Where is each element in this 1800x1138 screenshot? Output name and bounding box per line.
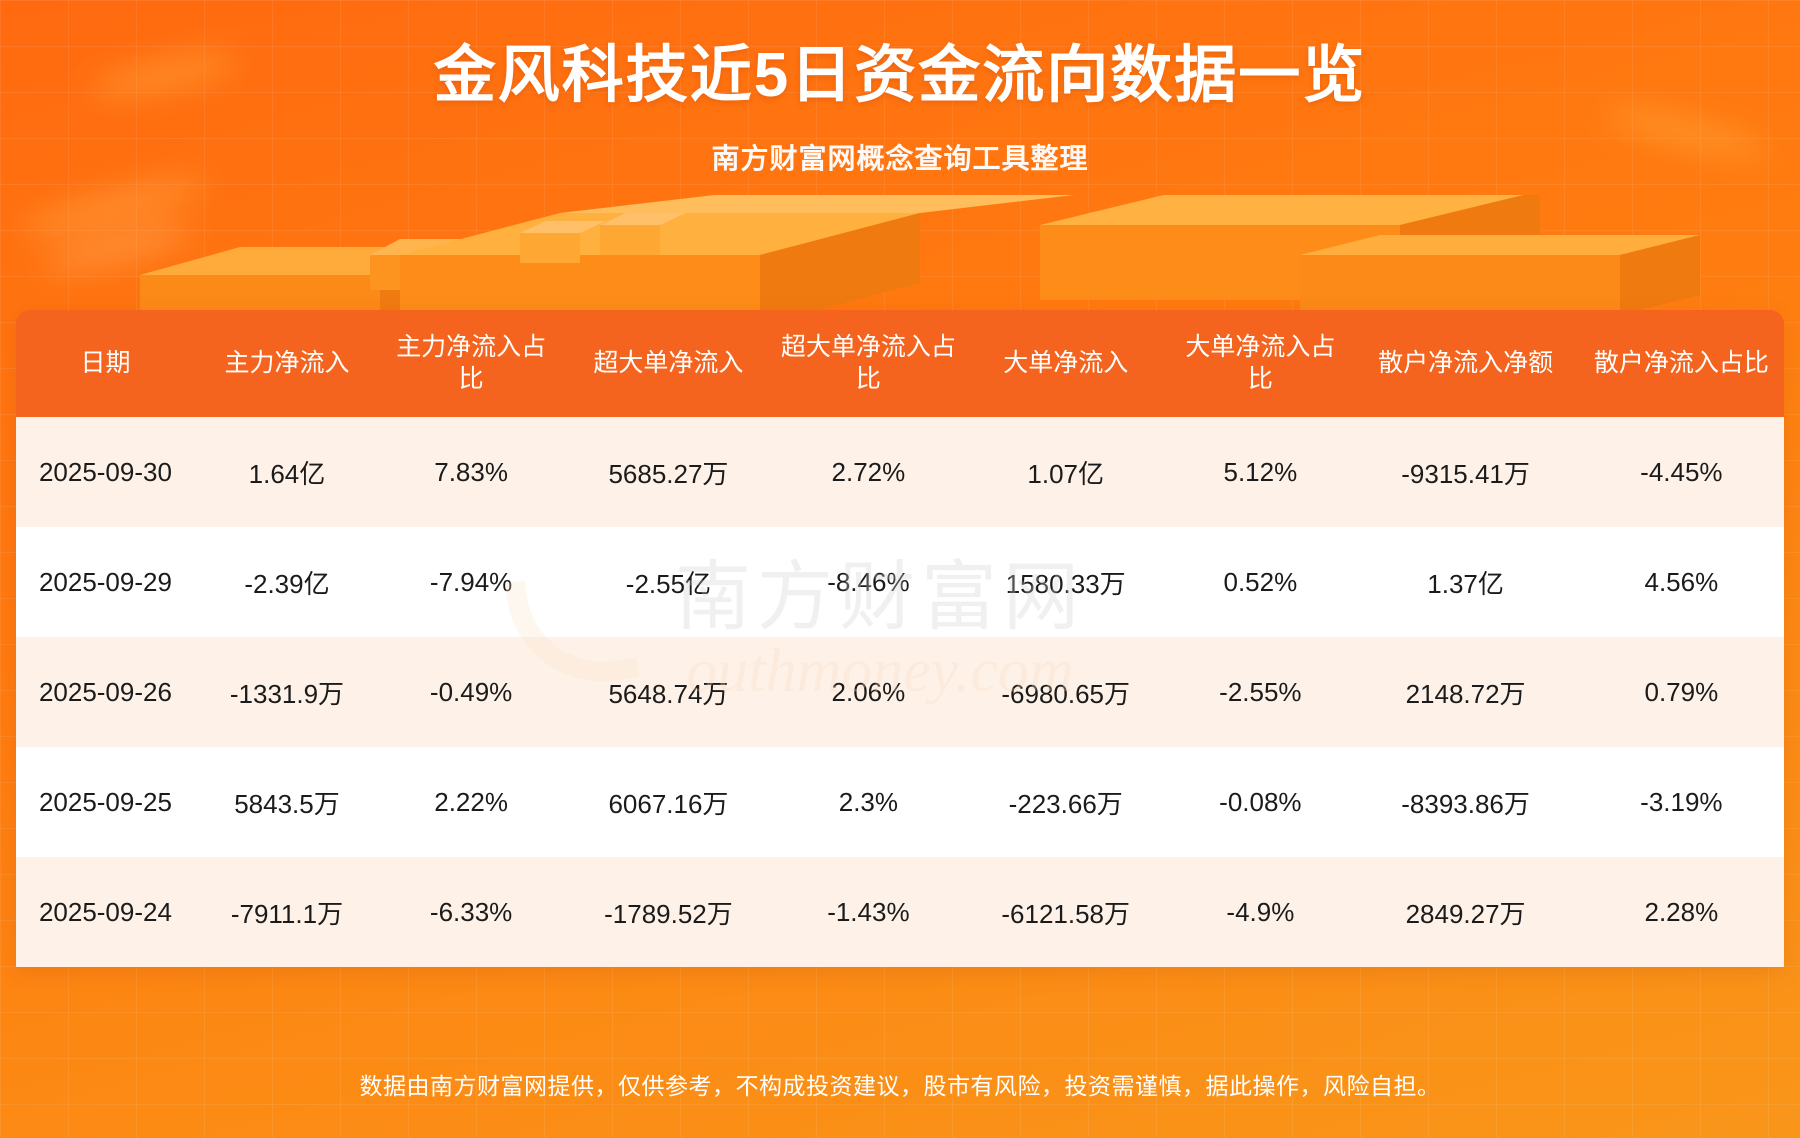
cell-xlarge-net: -2.55亿 (563, 527, 773, 637)
cell-large-pct: -4.9% (1168, 857, 1352, 967)
cell-retail-net: 2849.27万 (1352, 857, 1578, 967)
cell-large-net: 1.07亿 (963, 417, 1168, 527)
cell-main-net: -7911.1万 (195, 857, 379, 967)
fund-flow-table-card: 日期 主力净流入 主力净流入占比 超大单净流入 超大单净流入占比 大单净流入 大… (16, 310, 1784, 967)
cell-large-net: -6980.65万 (963, 637, 1168, 747)
cell-xlarge-pct: -1.43% (774, 857, 963, 967)
cell-main-pct: 7.83% (379, 417, 563, 527)
table-row: 2025-09-24 -7911.1万 -6.33% -1789.52万 -1.… (16, 857, 1784, 967)
column-header-large-pct: 大单净流入占比 (1168, 310, 1352, 417)
cell-main-pct: -7.94% (379, 527, 563, 637)
cell-large-net: -223.66万 (963, 747, 1168, 857)
cell-large-net: -6121.58万 (963, 857, 1168, 967)
cell-main-net: -2.39亿 (195, 527, 379, 637)
page-title: 金风科技近5日资金流向数据一览 (0, 40, 1800, 111)
cell-xlarge-net: 6067.16万 (563, 747, 773, 857)
cell-xlarge-pct: 2.3% (774, 747, 963, 857)
cell-date: 2025-09-29 (16, 527, 195, 637)
table-row: 2025-09-25 5843.5万 2.22% 6067.16万 2.3% -… (16, 747, 1784, 857)
cell-date: 2025-09-24 (16, 857, 195, 967)
cell-retail-net: 1.37亿 (1352, 527, 1578, 637)
page-subtitle: 南方财富网概念查询工具整理 (0, 137, 1800, 177)
column-header-xlarge-net: 超大单净流入 (563, 310, 773, 417)
cell-main-pct: -6.33% (379, 857, 563, 967)
cell-retail-pct: 4.56% (1579, 527, 1784, 637)
cell-xlarge-pct: 2.06% (774, 637, 963, 747)
cell-retail-pct: -4.45% (1579, 417, 1784, 527)
table-body: 2025-09-30 1.64亿 7.83% 5685.27万 2.72% 1.… (16, 417, 1784, 967)
light-streak-decoration (1284, 213, 1455, 264)
table-header-row: 日期 主力净流入 主力净流入占比 超大单净流入 超大单净流入占比 大单净流入 大… (16, 310, 1784, 417)
column-header-main-net: 主力净流入 (195, 310, 379, 417)
light-streak-decoration (18, 172, 207, 242)
cell-xlarge-pct: 2.72% (774, 417, 963, 527)
poster-header: 金风科技近5日资金流向数据一览 南方财富网概念查询工具整理 (0, 0, 1800, 177)
cell-retail-pct: -3.19% (1579, 747, 1784, 857)
table-header: 日期 主力净流入 主力净流入占比 超大单净流入 超大单净流入占比 大单净流入 大… (16, 310, 1784, 417)
cell-xlarge-net: -1789.52万 (563, 857, 773, 967)
table-row: 2025-09-30 1.64亿 7.83% 5685.27万 2.72% 1.… (16, 417, 1784, 527)
column-header-large-net: 大单净流入 (963, 310, 1168, 417)
cell-xlarge-net: 5685.27万 (563, 417, 773, 527)
cell-main-pct: 2.22% (379, 747, 563, 857)
poster-footer: 数据由南方财富网提供，仅供参考，不构成投资建议，股市有风险，投资需谨慎，据此操作… (0, 1030, 1800, 1138)
light-streak-decoration (44, 220, 194, 274)
table-row: 2025-09-26 -1331.9万 -0.49% 5648.74万 2.06… (16, 637, 1784, 747)
column-header-xlarge-pct: 超大单净流入占比 (774, 310, 963, 417)
disclaimer-text: 数据由南方财富网提供，仅供参考，不构成投资建议，股市有风险，投资需谨慎，据此操作… (360, 1067, 1441, 1101)
cell-large-net: 1580.33万 (963, 527, 1168, 637)
cell-xlarge-pct: -8.46% (774, 527, 963, 637)
column-header-retail-pct: 散户净流入占比 (1579, 310, 1784, 417)
cell-main-pct: -0.49% (379, 637, 563, 747)
cell-retail-net: -8393.86万 (1352, 747, 1578, 857)
column-header-retail-net: 散户净流入净额 (1352, 310, 1578, 417)
cell-xlarge-net: 5648.74万 (563, 637, 773, 747)
cell-main-net: 5843.5万 (195, 747, 379, 857)
cell-large-pct: 5.12% (1168, 417, 1352, 527)
cell-date: 2025-09-25 (16, 747, 195, 857)
cell-main-net: -1331.9万 (195, 637, 379, 747)
table-row: 2025-09-29 -2.39亿 -7.94% -2.55亿 -8.46% 1… (16, 527, 1784, 637)
cell-retail-pct: 2.28% (1579, 857, 1784, 967)
cell-large-pct: 0.52% (1168, 527, 1352, 637)
poster-canvas: 金风科技近5日资金流向数据一览 南方财富网概念查询工具整理 日期 主力净流入 主… (0, 0, 1800, 1138)
cell-retail-pct: 0.79% (1579, 637, 1784, 747)
cell-large-pct: -2.55% (1168, 637, 1352, 747)
column-header-main-pct: 主力净流入占比 (379, 310, 563, 417)
cell-retail-net: -9315.41万 (1352, 417, 1578, 527)
cell-main-net: 1.64亿 (195, 417, 379, 527)
column-header-date: 日期 (16, 310, 195, 417)
cell-retail-net: 2148.72万 (1352, 637, 1578, 747)
cell-date: 2025-09-26 (16, 637, 195, 747)
cell-large-pct: -0.08% (1168, 747, 1352, 857)
fund-flow-table: 日期 主力净流入 主力净流入占比 超大单净流入 超大单净流入占比 大单净流入 大… (16, 310, 1784, 967)
cell-date: 2025-09-30 (16, 417, 195, 527)
